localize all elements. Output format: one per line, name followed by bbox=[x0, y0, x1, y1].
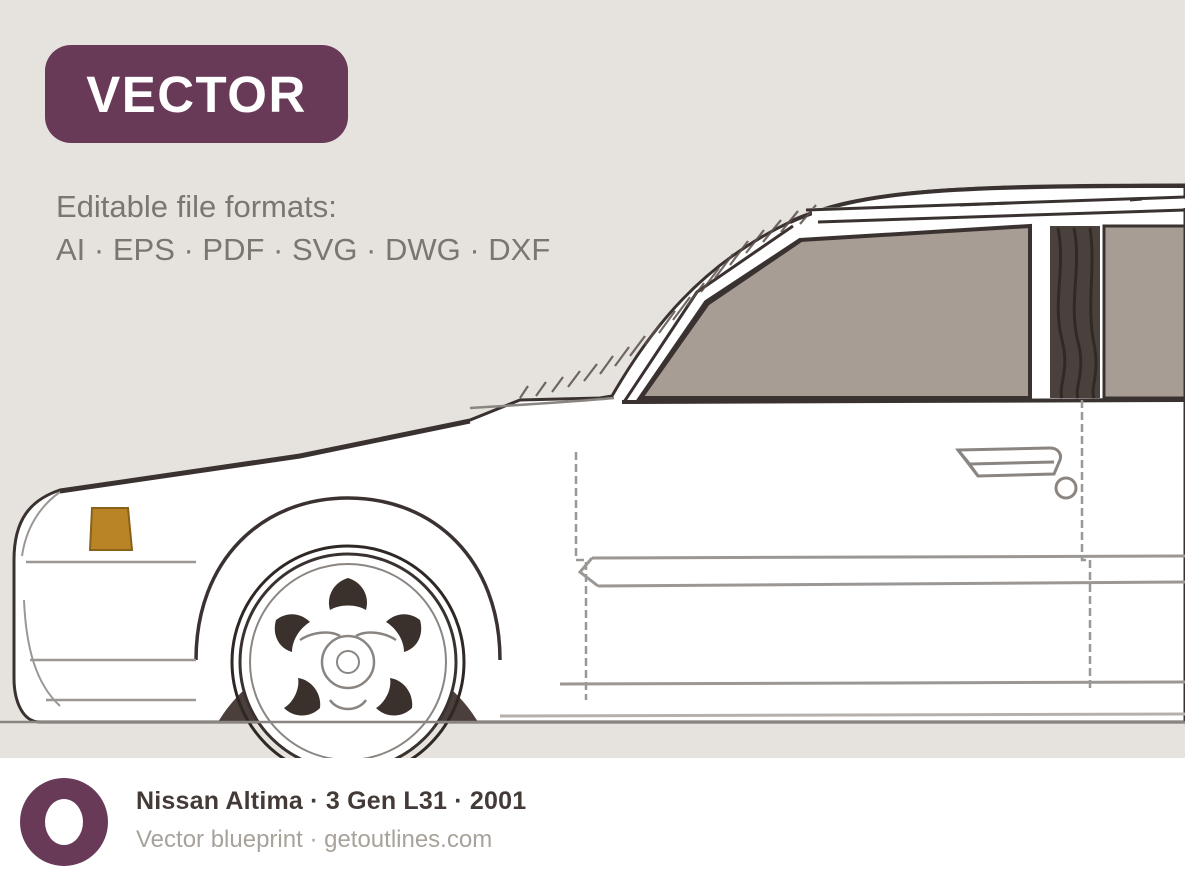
blueprint-page: VECTOR Editable file formats: AI · EPS ·… bbox=[0, 0, 1185, 880]
rear-door-glass bbox=[1104, 226, 1185, 398]
door-lock-keyhole bbox=[1056, 478, 1076, 498]
vector-badge: VECTOR bbox=[45, 45, 348, 143]
belt-line bbox=[622, 400, 1185, 402]
body-molding-top bbox=[592, 556, 1185, 558]
vehicle-subtitle: Vector blueprint · getoutlines.com bbox=[136, 823, 526, 857]
sill-shadow-line bbox=[500, 714, 1185, 716]
vehicle-title: Nissan Altima · 3 Gen L31 · 2001 bbox=[136, 784, 526, 818]
formats-list: AI · EPS · PDF · SVG · DWG · DXF bbox=[56, 228, 550, 271]
formats-label: Editable file formats: bbox=[56, 185, 550, 228]
vector-badge-label: VECTOR bbox=[86, 69, 307, 120]
rim-hub-center bbox=[337, 651, 359, 673]
door-handle bbox=[958, 448, 1061, 476]
getoutlines-logo-icon bbox=[20, 778, 108, 866]
footer-text-block: Nissan Altima · 3 Gen L31 · 2001 Vector … bbox=[136, 784, 526, 857]
windshield-glass bbox=[640, 226, 1030, 398]
footer-bar: Nissan Altima · 3 Gen L31 · 2001 Vector … bbox=[0, 758, 1185, 880]
side-marker-light bbox=[90, 508, 132, 550]
logo-ring-hole bbox=[45, 799, 83, 845]
vehicle-artboard: VECTOR Editable file formats: AI · EPS ·… bbox=[0, 0, 1185, 758]
rocker-panel-line bbox=[560, 682, 1185, 684]
editable-formats-block: Editable file formats: AI · EPS · PDF · … bbox=[56, 185, 550, 271]
